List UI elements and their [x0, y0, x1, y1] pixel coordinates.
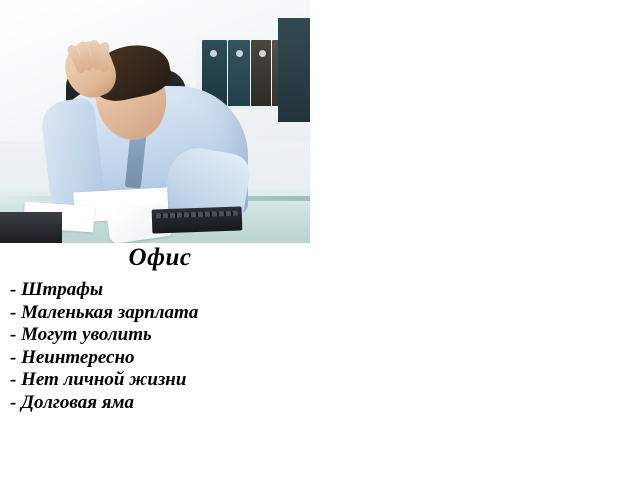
binder-ring	[210, 50, 217, 57]
office-monitor	[278, 18, 310, 122]
meme-canvas: Офис - Штрафы - Маленькая зарплата - Мог…	[0, 0, 640, 480]
keyboard-icon	[152, 206, 243, 233]
list-item: - Могут уволить	[10, 324, 310, 347]
binder-ring	[259, 50, 266, 57]
left-bullet-list: - Штрафы - Маленькая зарплата - Могут ув…	[10, 279, 310, 414]
list-item: - Неинтересно	[10, 347, 310, 370]
left-title: Офис	[0, 245, 320, 270]
list-item: - Нет личной жизни	[10, 369, 310, 392]
binder-ring	[236, 50, 243, 57]
panel-svo: СВО - Единоразовая выплата + 200к в меся…	[320, 0, 640, 480]
stressed-office-worker-photo	[0, 0, 310, 243]
list-item: - Маленькая зарплата	[10, 302, 310, 325]
panel-office: Офис - Штрафы - Маленькая зарплата - Мог…	[0, 0, 320, 480]
desk-dark-object	[0, 212, 62, 243]
list-item: - Штрафы	[10, 279, 310, 302]
worker-finger	[99, 42, 109, 72]
list-item: - Долговая яма	[10, 392, 310, 415]
